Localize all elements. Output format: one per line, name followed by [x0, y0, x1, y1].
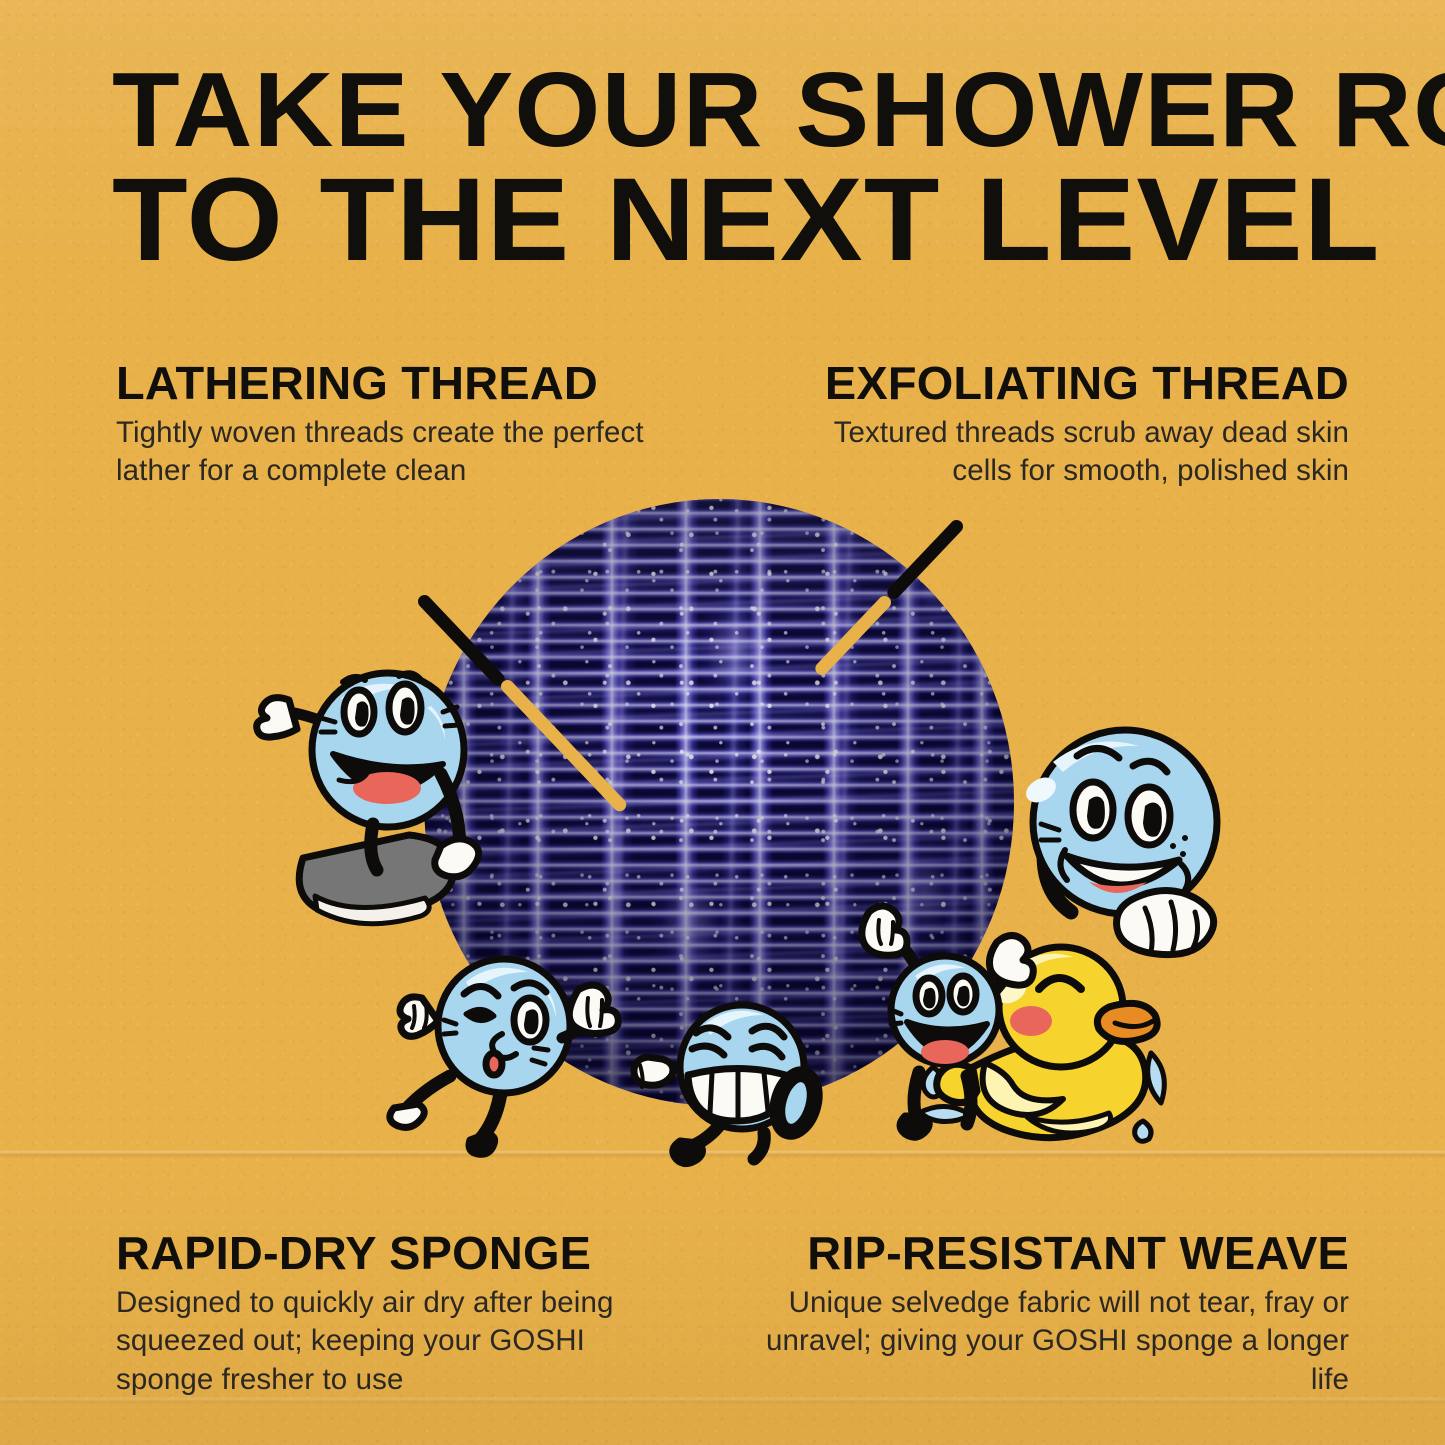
feature-rapid-dry-sponge: RAPID-DRY SPONGE Designed to quickly air… — [116, 1230, 686, 1399]
headline-line-1: TAKE YOUR SHOWER ROUTINE — [112, 62, 1418, 160]
feature-body-rip-resistant-weave: Unique selvedge fabric will not tear, fr… — [749, 1284, 1349, 1399]
feature-title-exfoliating-thread: EXFOLIATING THREAD — [757, 360, 1349, 408]
feature-body-lathering-thread: Tightly woven threads create the perfect… — [116, 414, 676, 491]
fabric-specular-layer — [424, 499, 1014, 1106]
feature-title-rip-resistant-weave: RIP-RESISTANT WEAVE — [737, 1230, 1349, 1278]
fabric-weave-circle — [424, 499, 1014, 1106]
feature-lathering-thread: LATHERING THREAD Tightly woven threads c… — [116, 360, 676, 491]
paper-crease-lower — [0, 1398, 1445, 1404]
water-droplet-character-resting-icon — [1005, 722, 1290, 982]
infographic-poster: TAKE YOUR SHOWER ROUTINE TO THE NEXT LEV… — [0, 0, 1445, 1445]
feature-title-lathering-thread: LATHERING THREAD — [116, 360, 687, 408]
feature-title-rapid-dry-sponge: RAPID-DRY SPONGE — [116, 1230, 697, 1278]
feature-body-exfoliating-thread: Textured threads scrub away dead skin ce… — [769, 414, 1349, 491]
headline-line-2: TO THE NEXT LEVEL — [112, 166, 1425, 275]
feature-exfoliating-thread: EXFOLIATING THREAD Textured threads scru… — [769, 360, 1349, 491]
paper-crease-upper — [0, 1151, 1445, 1158]
fabric-texture — [424, 499, 1014, 1106]
feature-body-rapid-dry-sponge: Designed to quickly air dry after being … — [116, 1284, 686, 1399]
page-title: TAKE YOUR SHOWER ROUTINE TO THE NEXT LEV… — [112, 62, 1362, 274]
feature-rip-resistant-weave: RIP-RESISTANT WEAVE Unique selvedge fabr… — [749, 1230, 1349, 1399]
